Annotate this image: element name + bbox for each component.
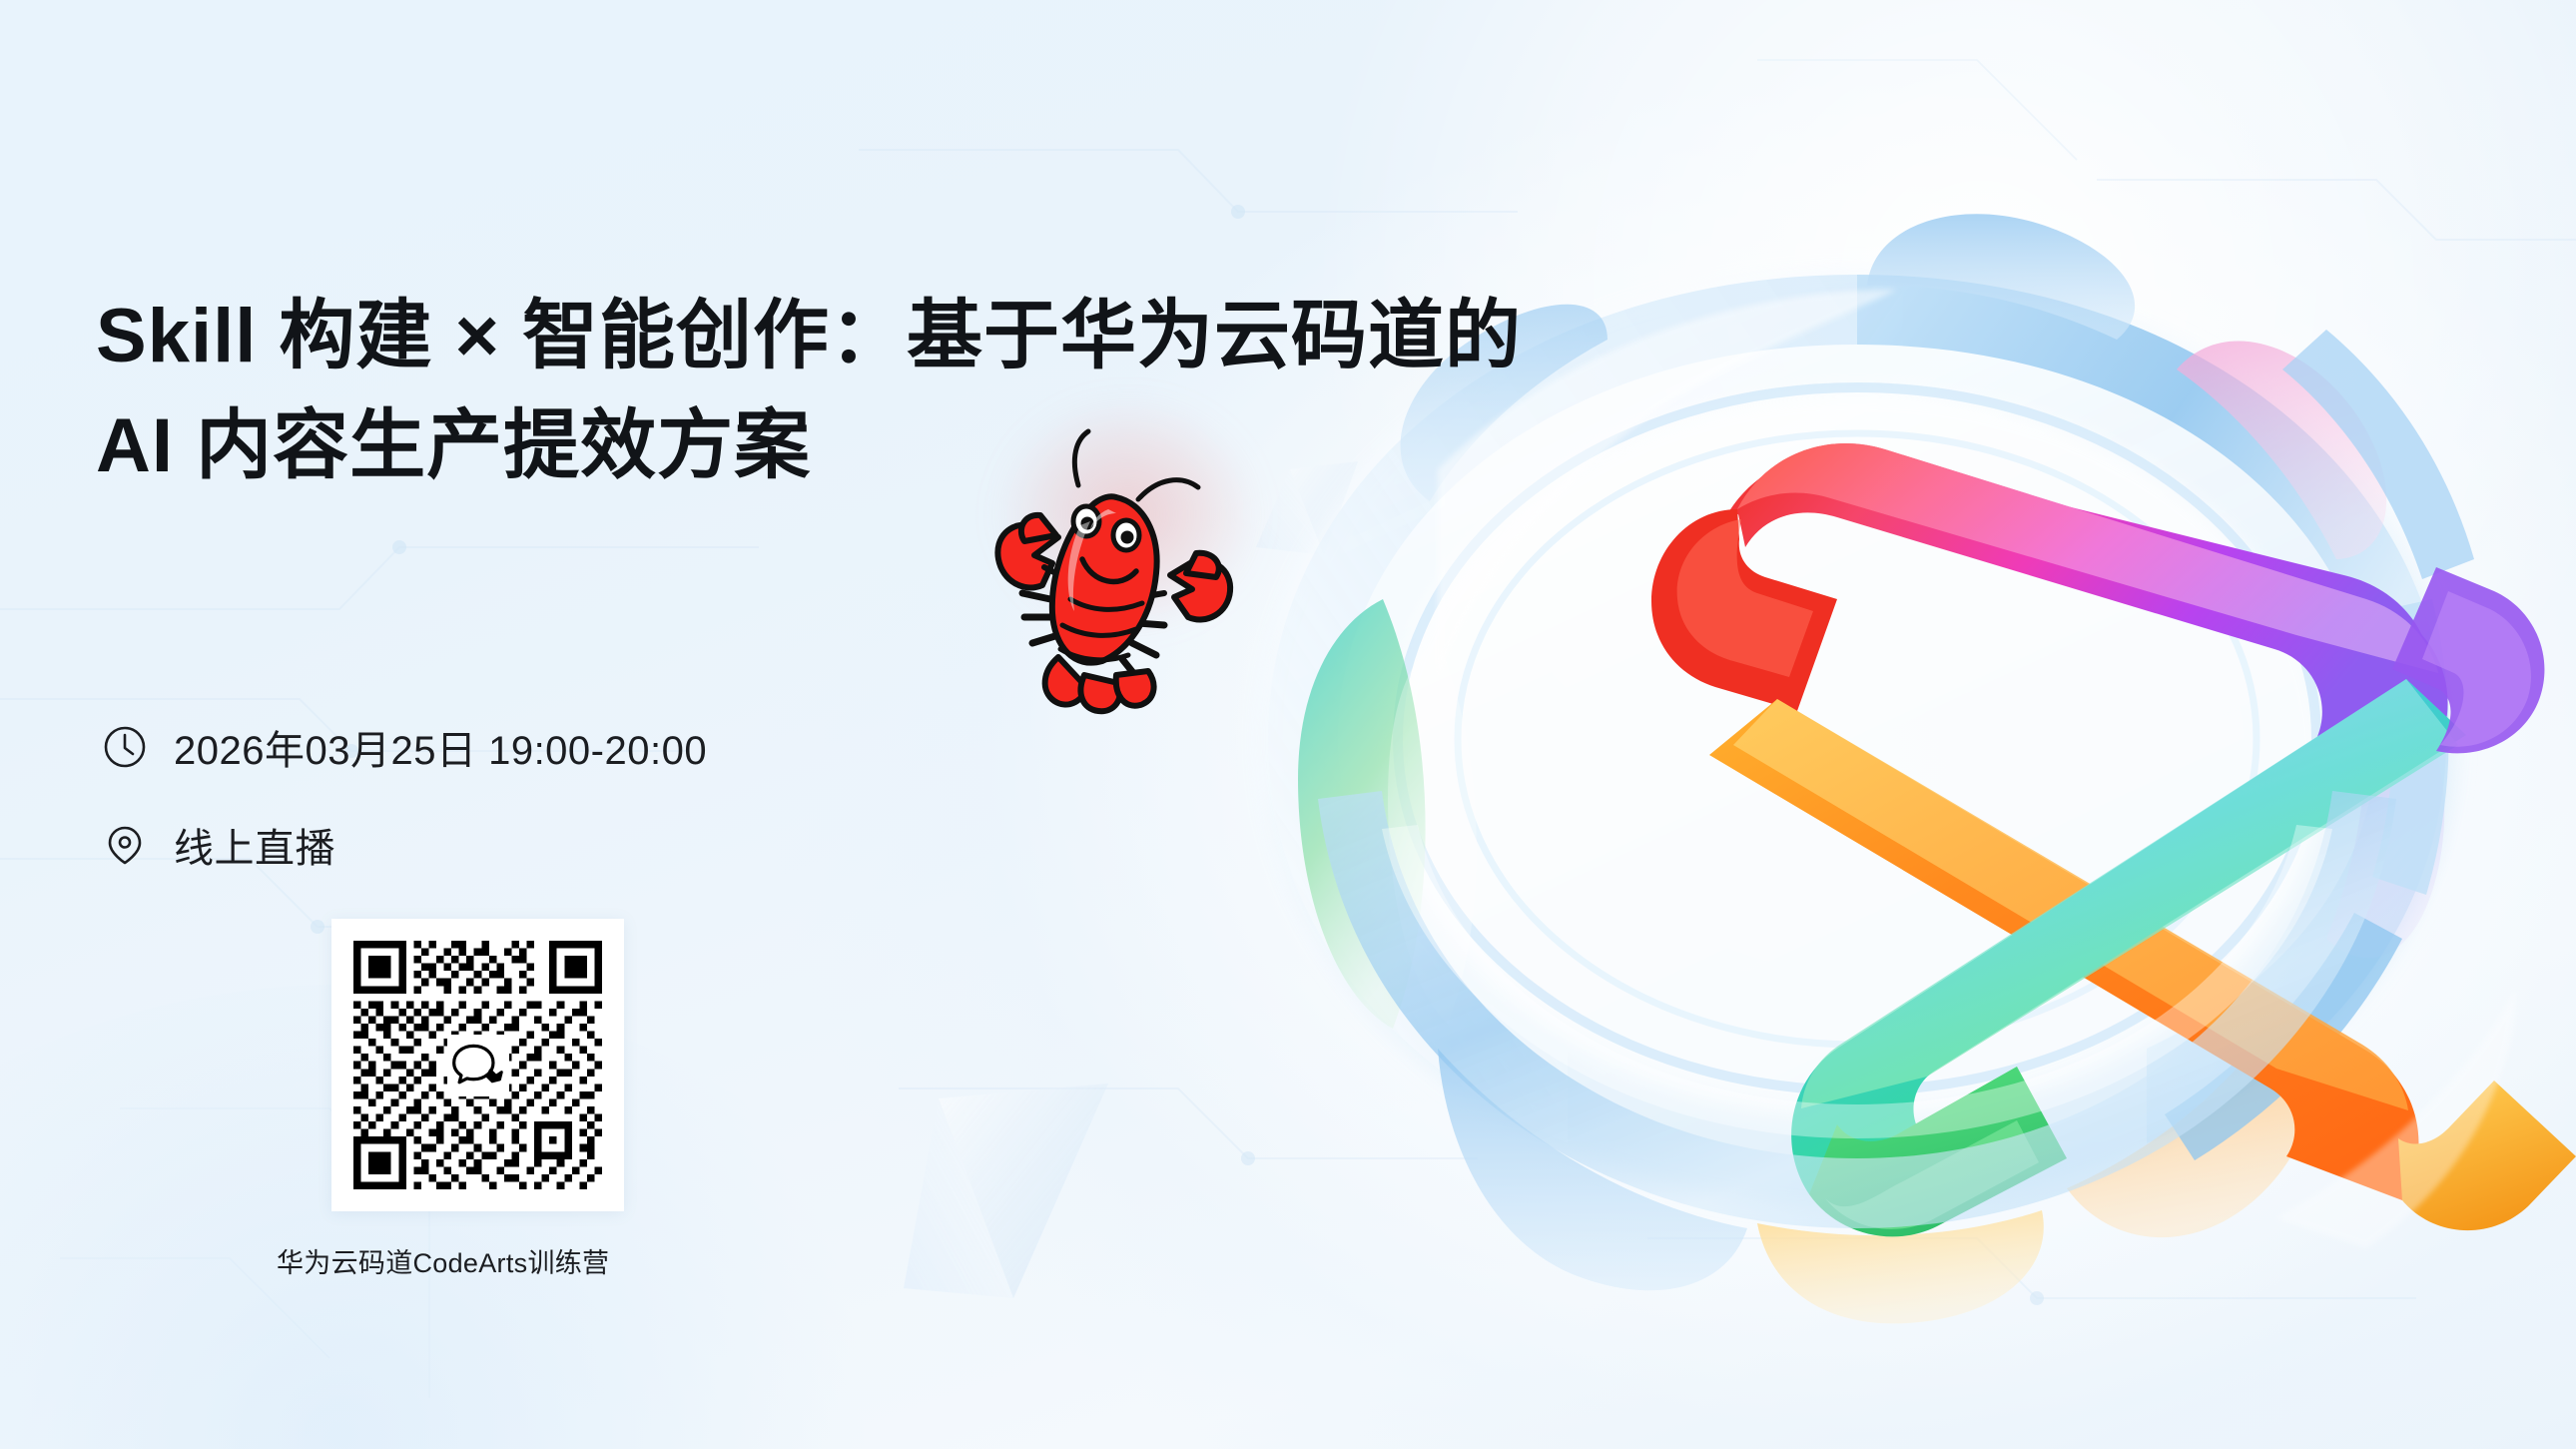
wechat-speech-bubble-icon bbox=[447, 1035, 509, 1096]
clock-icon bbox=[102, 724, 148, 770]
event-meta: 2026年03月25日 19:00-20:00 线上直播 bbox=[102, 711, 707, 907]
event-location-text: 线上直播 bbox=[174, 816, 335, 874]
lobster-mascot bbox=[966, 417, 1256, 727]
codearts-3d-artwork bbox=[1138, 40, 2576, 1438]
title-line-1: Skill 构建 × 智能创作：基于华为云码道的 bbox=[96, 282, 1274, 391]
event-banner: Skill 构建 × 智能创作：基于华为云码道的 AI 内容生产提效方案 202… bbox=[0, 0, 2576, 1449]
event-time-row: 2026年03月25日 19:00-20:00 bbox=[102, 711, 707, 783]
qr-code[interactable] bbox=[331, 919, 624, 1211]
background-glow-top-right bbox=[1233, 0, 2576, 880]
event-location-row: 线上直播 bbox=[102, 809, 707, 881]
qr-block: 华为云码道CodeArts训练营 bbox=[331, 919, 624, 1280]
qr-caption: 华为云码道CodeArts训练营 bbox=[277, 1241, 569, 1280]
location-pin-icon bbox=[102, 822, 148, 868]
event-time-text: 2026年03月25日 19:00-20:00 bbox=[174, 718, 707, 776]
